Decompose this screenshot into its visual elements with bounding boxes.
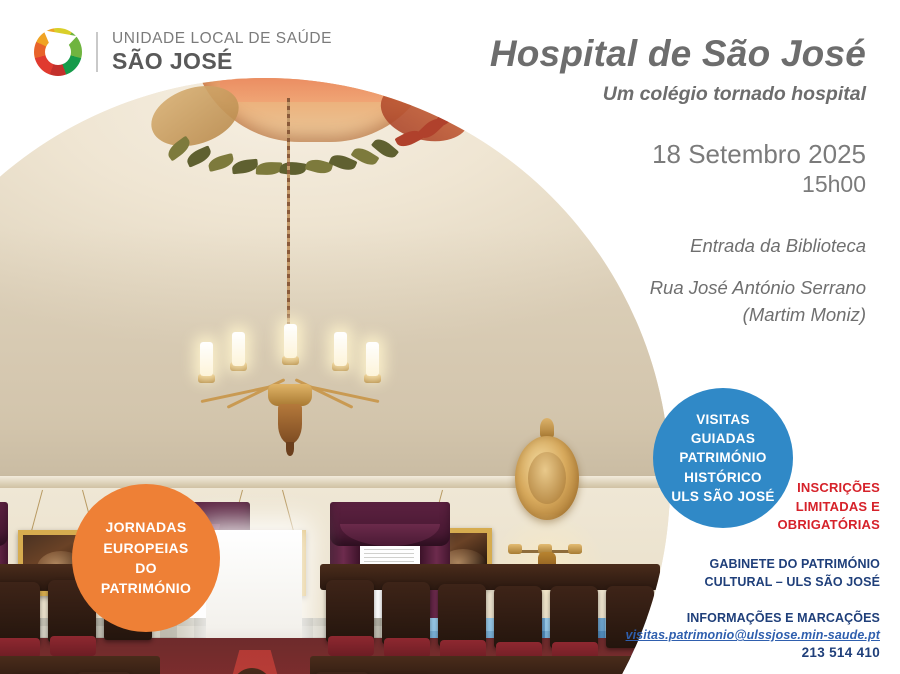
- brand-text: UNIDADE LOCAL DE SAÚDE SÃO JOSÉ: [112, 31, 332, 74]
- poster-canvas: UNIDADE LOCAL DE SAÚDE SÃO JOSÉ Hospital…: [0, 0, 900, 674]
- badge-jornadas-europeias: JORNADAS EUROPEIAS DO PATRIMÓNIO: [72, 484, 220, 632]
- uls-circle-logo-icon: [34, 28, 82, 76]
- badge-visitas-guiadas: VISITAS GUIADAS PATRIMÓNIO HISTÓRICO ULS…: [653, 388, 793, 528]
- contact-phone: 213 514 410: [490, 645, 880, 660]
- chandelier: [190, 340, 390, 450]
- relief-hook: [540, 418, 554, 438]
- address-line-1: Rua José António Serrano: [650, 277, 866, 298]
- event-subtitle: Um colégio tornado hospital: [490, 83, 866, 106]
- badge-left-line-3: DO: [101, 558, 191, 578]
- page-title: Hospital de São José: [490, 34, 866, 75]
- brand-line-1: UNIDADE LOCAL DE SAÚDE: [112, 31, 332, 47]
- address-line-2: (Martim Moniz): [743, 304, 866, 325]
- badge-left-line-4: PATRIMÓNIO: [101, 578, 191, 598]
- event-place: Entrada da Biblioteca: [490, 232, 866, 261]
- brand-line-2: SÃO JOSÉ: [112, 50, 332, 73]
- badge-right-line-2: GUIADAS: [671, 429, 774, 448]
- badge-right-line-4: HISTÓRICO: [671, 468, 774, 487]
- event-date: 18 Setembro 2025: [490, 138, 866, 172]
- event-header: Hospital de São José Um colégio tornado …: [490, 34, 866, 329]
- badge-left-line-1: JORNADAS: [101, 517, 191, 537]
- office-line-2: CULTURAL – ULS SÃO JOSÉ: [490, 573, 880, 591]
- badge-right-line-5: ULS SÃO JOSÉ: [671, 487, 774, 506]
- badge-right-line-3: PATRIMÓNIO: [671, 448, 774, 467]
- event-time: 15h00: [490, 171, 866, 198]
- chandelier-chain: [287, 98, 290, 348]
- contact-label: INFORMAÇÕES E MARCAÇÕES: [490, 611, 880, 625]
- badge-right-line-1: VISITAS: [671, 410, 774, 429]
- office-line-1: GABINETE DO PATRIMÓNIO: [490, 555, 880, 573]
- laurel-wreath-decoration: [160, 128, 460, 184]
- contact-email-link[interactable]: visitas.patrimonio@ulssjose.min-saude.pt: [490, 628, 880, 642]
- organizing-office: GABINETE DO PATRIMÓNIO CULTURAL – ULS SÃ…: [490, 555, 880, 591]
- brand-logo: UNIDADE LOCAL DE SAÚDE SÃO JOSÉ: [34, 28, 332, 76]
- curtain-valance: [330, 502, 450, 546]
- warning-line-3: OBRIGATÓRIAS: [490, 516, 880, 534]
- event-address: Rua José António Serrano (Martim Moniz): [490, 275, 866, 329]
- logo-divider: [96, 32, 98, 72]
- curtain-valance: [0, 502, 8, 546]
- badge-left-line-2: EUROPEIAS: [101, 538, 191, 558]
